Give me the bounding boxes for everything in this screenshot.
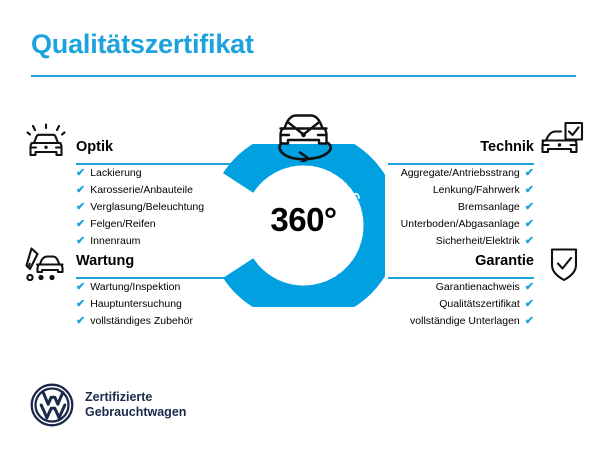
- car-rotate-icon: [267, 110, 340, 162]
- car-shine-icon: [24, 123, 68, 163]
- check-icon: ✔: [525, 279, 534, 296]
- section-garantie-list: Garantienachweis✔ Qualitätszertifikat✔ v…: [388, 279, 534, 330]
- list-item-label: Innenraum: [90, 233, 140, 250]
- list-item: Aggregate/Antriebsstrang✔: [388, 165, 534, 182]
- check-icon: ✔: [525, 233, 534, 250]
- check-icon: ✔: [525, 165, 534, 182]
- list-item-label: Felgen/Reifen: [90, 216, 155, 233]
- list-item: vollständige Unterlagen✔: [388, 313, 534, 330]
- check-icon: ✔: [525, 182, 534, 199]
- list-item: ✔vollständiges Zubehör: [76, 313, 234, 330]
- check-icon: ✔: [76, 279, 85, 296]
- list-item: ✔Karosserie/Anbauteile: [76, 182, 234, 199]
- check-icon: ✔: [76, 216, 85, 233]
- section-optik-divider: [76, 163, 234, 165]
- footer-brand-line-2: Gebrauchtwagen: [85, 405, 186, 420]
- section-wartung-header: Wartung: [76, 253, 234, 279]
- check-icon: ✔: [76, 165, 85, 182]
- car-checkbox-icon: [540, 121, 584, 161]
- section-wartung-title: Wartung: [76, 253, 134, 269]
- page-title: Qualitätszertifikat: [31, 29, 254, 60]
- section-optik-header: Optik: [76, 139, 234, 165]
- section-technik-title: Technik: [480, 139, 534, 155]
- check-icon: ✔: [525, 296, 534, 313]
- list-item: Lenkung/Fahrwerk✔: [388, 182, 534, 199]
- quality-certificate-page: Qualitätszertifikat Optik ✔La: [0, 0, 607, 455]
- list-item-label: Lenkung/Fahrwerk: [433, 182, 520, 199]
- section-optik: Optik ✔Lackierung ✔Karosserie/Anbauteile…: [76, 139, 234, 250]
- list-item-label: Hauptuntersuchung: [90, 296, 182, 313]
- section-garantie: Garantie Garantienachweis✔ Qualitätszert…: [388, 253, 534, 330]
- check-icon: ✔: [76, 296, 85, 313]
- section-technik: Technik Aggregate/Antriebsstrang✔ Lenkun…: [388, 139, 534, 250]
- section-wartung: Wartung ✔Wartung/Inspektion ✔Hauptunters…: [76, 253, 234, 330]
- list-item: Unterboden/Abgasanlage✔: [388, 216, 534, 233]
- check-icon: ✔: [525, 216, 534, 233]
- title-divider: [31, 75, 576, 77]
- list-item-label: vollständiges Zubehör: [90, 313, 193, 330]
- section-optik-title: Optik: [76, 139, 113, 155]
- list-item: ✔Lackierung: [76, 165, 234, 182]
- list-item-label: Garantienachweis: [436, 279, 520, 296]
- list-item-label: Verglasung/Beleuchtung: [90, 199, 204, 216]
- list-item: ✔Hauptuntersuchung: [76, 296, 234, 313]
- list-item-label: Karosserie/Anbauteile: [90, 182, 193, 199]
- list-item: ✔Verglasung/Beleuchtung: [76, 199, 234, 216]
- list-item: ✔Felgen/Reifen: [76, 216, 234, 233]
- footer-brand-line-1: Zertifizierte: [85, 390, 186, 405]
- list-item: ✔Innenraum: [76, 233, 234, 250]
- check-icon: ✔: [525, 313, 534, 330]
- section-technik-header: Technik: [388, 139, 534, 165]
- footer-brand-text: Zertifizierte Gebrauchtwagen: [85, 390, 186, 420]
- check-icon: ✔: [76, 199, 85, 216]
- list-item-label: Aggregate/Antriebsstrang: [401, 165, 520, 182]
- check-icon: ✔: [76, 233, 85, 250]
- check-icon: ✔: [525, 199, 534, 216]
- list-item-label: Sicherheit/Elektrik: [436, 233, 520, 250]
- list-item-label: Lackierung: [90, 165, 141, 182]
- section-wartung-divider: [76, 277, 234, 279]
- vw-roundel-logo-icon: [30, 383, 74, 427]
- list-item-label: Bremsanlage: [458, 199, 520, 216]
- list-item: ✔Wartung/Inspektion: [76, 279, 234, 296]
- list-item-label: Qualitätszertifikat: [439, 296, 520, 313]
- 360-check-badge: Gebrauchtwagen-Check 360°: [222, 144, 385, 307]
- section-optik-list: ✔Lackierung ✔Karosserie/Anbauteile ✔Verg…: [76, 165, 234, 250]
- section-technik-list: Aggregate/Antriebsstrang✔ Lenkung/Fahrwe…: [388, 165, 534, 250]
- car-service-pen-icon: [22, 245, 66, 285]
- list-item-label: Unterboden/Abgasanlage: [401, 216, 520, 233]
- list-item: Garantienachweis✔: [388, 279, 534, 296]
- shield-check-icon: [542, 245, 586, 285]
- section-technik-divider: [388, 163, 534, 165]
- section-wartung-list: ✔Wartung/Inspektion ✔Hauptuntersuchung ✔…: [76, 279, 234, 330]
- badge-center-label: 360°: [222, 201, 385, 239]
- footer-brand-logo: Zertifizierte Gebrauchtwagen: [30, 383, 186, 427]
- section-garantie-header: Garantie: [388, 253, 534, 279]
- list-item: Qualitätszertifikat✔: [388, 296, 534, 313]
- check-icon: ✔: [76, 182, 85, 199]
- list-item: Sicherheit/Elektrik✔: [388, 233, 534, 250]
- list-item-label: Wartung/Inspektion: [90, 279, 180, 296]
- section-garantie-title: Garantie: [475, 253, 534, 269]
- list-item-label: vollständige Unterlagen: [410, 313, 520, 330]
- list-item: Bremsanlage✔: [388, 199, 534, 216]
- section-garantie-divider: [388, 277, 534, 279]
- check-icon: ✔: [76, 313, 85, 330]
